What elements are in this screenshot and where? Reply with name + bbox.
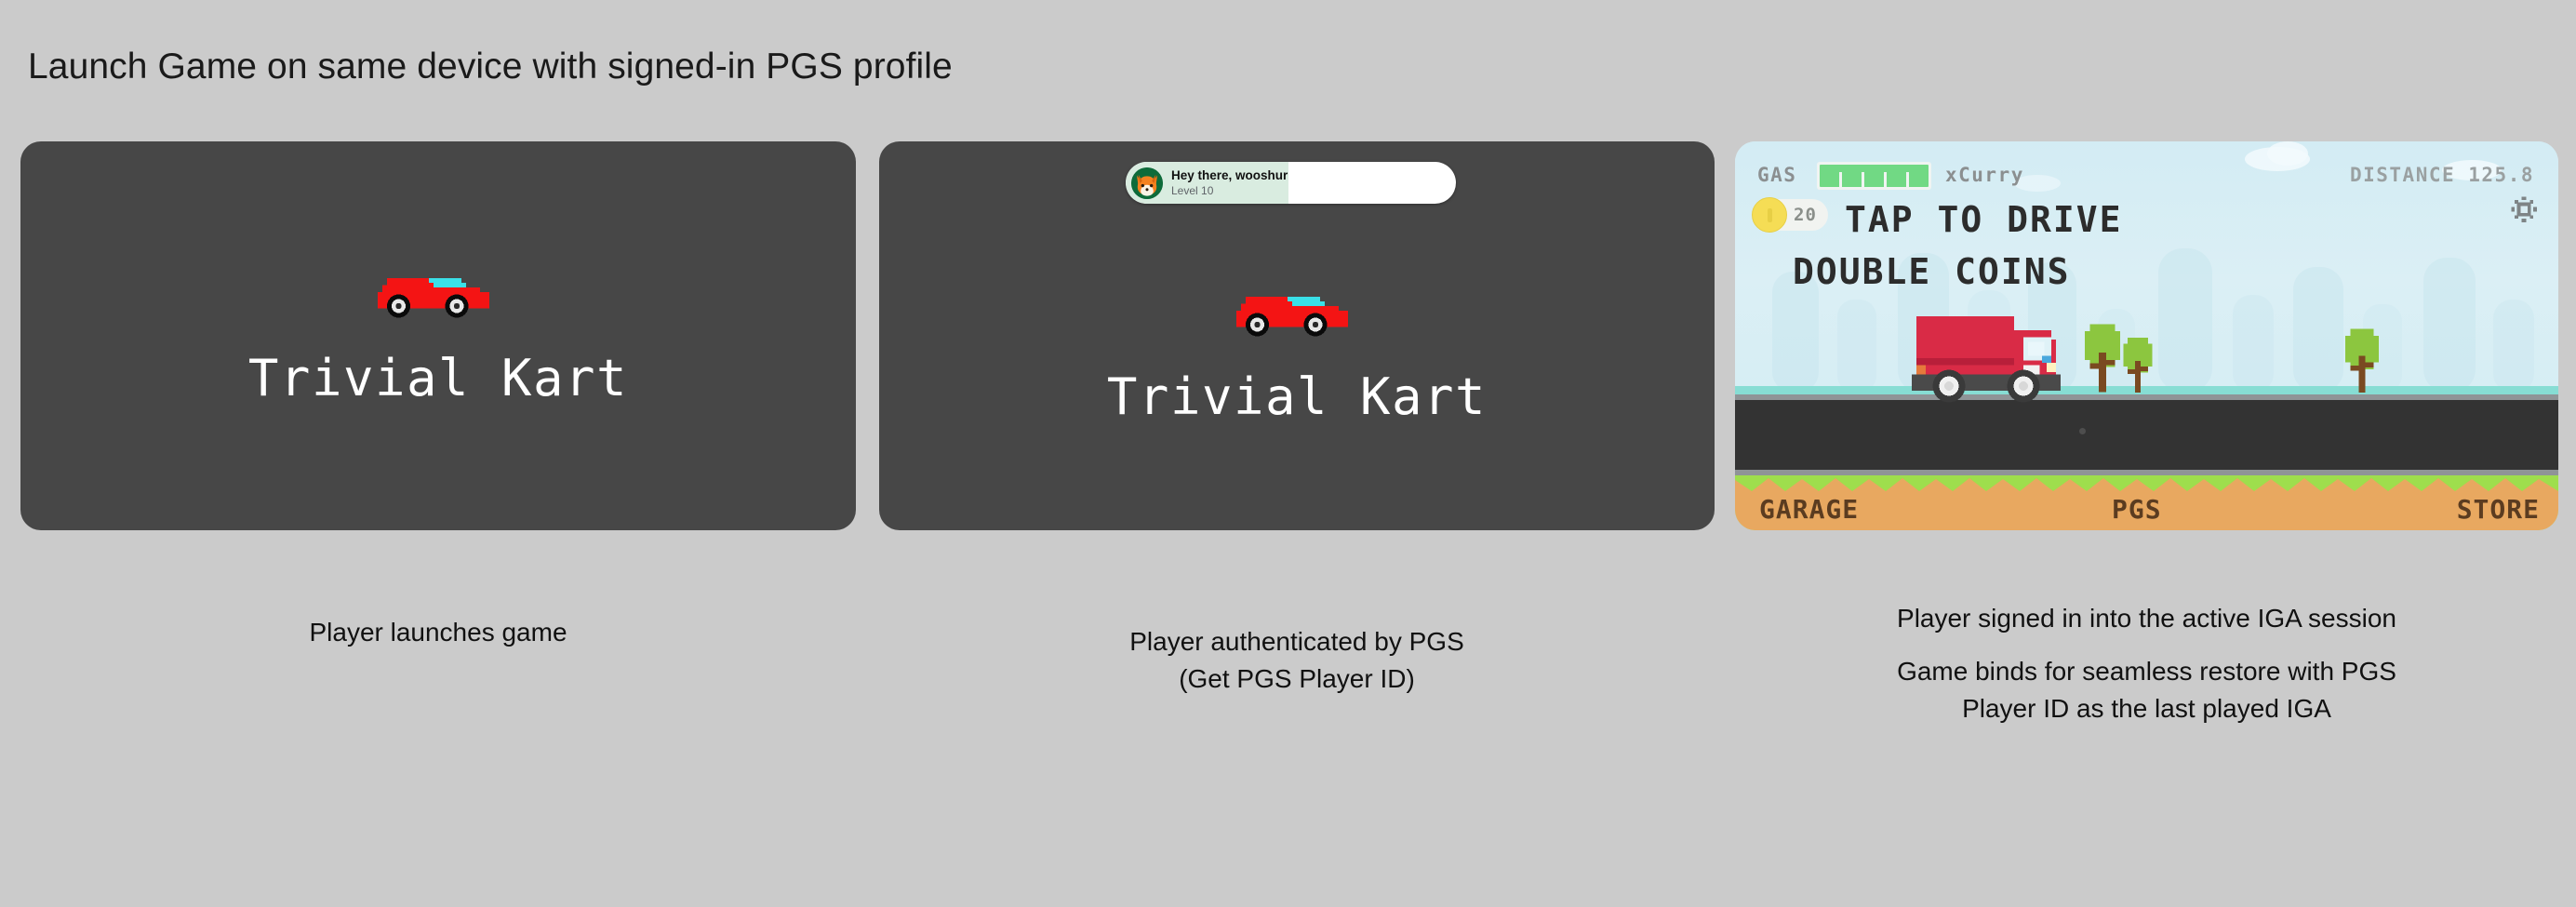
panel-gameplay: GAS xCurry DISTANCE 125.8 bbox=[1735, 141, 2558, 530]
game-screen: GAS xCurry DISTANCE 125.8 bbox=[1735, 141, 2558, 530]
caption-panel-3-line2: Game binds for seamless restore with PGS… bbox=[1712, 653, 2576, 727]
caption-panel-3-line1: Player signed in into the active IGA ses… bbox=[1712, 600, 2576, 637]
double-coins-prompt: DOUBLE COINS bbox=[1793, 251, 2071, 292]
splash-content: Trivial Kart bbox=[20, 141, 856, 530]
coin-count: 20 bbox=[1794, 205, 1817, 225]
distance-readout: DISTANCE 125.8 bbox=[2350, 164, 2534, 186]
pgs-signin-toast[interactable]: Hey there, wooshur Level 10 bbox=[1126, 162, 1456, 204]
game-hud: GAS xCurry DISTANCE 125.8 bbox=[1735, 141, 2558, 530]
panel-splash-launch: Trivial Kart bbox=[20, 141, 856, 530]
player-username: xCurry bbox=[1945, 164, 2024, 186]
gas-label: GAS bbox=[1757, 164, 1796, 186]
gear-icon[interactable] bbox=[2510, 195, 2538, 223]
fox-avatar-icon bbox=[1131, 167, 1163, 199]
game-nav-bar: GARAGE PGS STORE bbox=[1735, 489, 2558, 530]
nav-item-pgs[interactable]: PGS bbox=[2112, 494, 2162, 525]
coin-counter: 20 bbox=[1755, 199, 1828, 231]
game-title: Trivial Kart bbox=[1107, 367, 1487, 426]
red-car-sprite bbox=[368, 264, 508, 325]
game-title: Trivial Kart bbox=[248, 349, 628, 407]
coin-icon bbox=[1752, 197, 1787, 233]
gas-tick bbox=[1862, 172, 1864, 187]
gas-meter bbox=[1817, 162, 1931, 190]
nav-item-garage[interactable]: GARAGE bbox=[1759, 494, 1859, 525]
toast-text-block: Hey there, wooshur Level 10 bbox=[1171, 169, 1288, 196]
toast-greeting: Hey there, wooshur bbox=[1171, 169, 1288, 182]
caption-panel-2: Player authenticated by PGS (Get PGS Pla… bbox=[879, 623, 1715, 698]
page-title: Launch Game on same device with signed-i… bbox=[28, 47, 953, 87]
panel-splash-authenticated: Trivial Kart Hey there, wooshur Level 10 bbox=[879, 141, 1715, 530]
caption-panel-1: Player launches game bbox=[20, 614, 856, 651]
red-car-sprite bbox=[1227, 283, 1367, 343]
gas-tick bbox=[1884, 172, 1887, 187]
tap-to-drive-prompt[interactable]: TAP TO DRIVE bbox=[1845, 199, 2123, 240]
toast-level: Level 10 bbox=[1171, 185, 1288, 196]
gas-tick bbox=[1906, 172, 1909, 187]
gas-tick bbox=[1839, 172, 1842, 187]
gas-meter-fill bbox=[1820, 165, 1929, 187]
nav-item-store[interactable]: STORE bbox=[2457, 494, 2540, 525]
